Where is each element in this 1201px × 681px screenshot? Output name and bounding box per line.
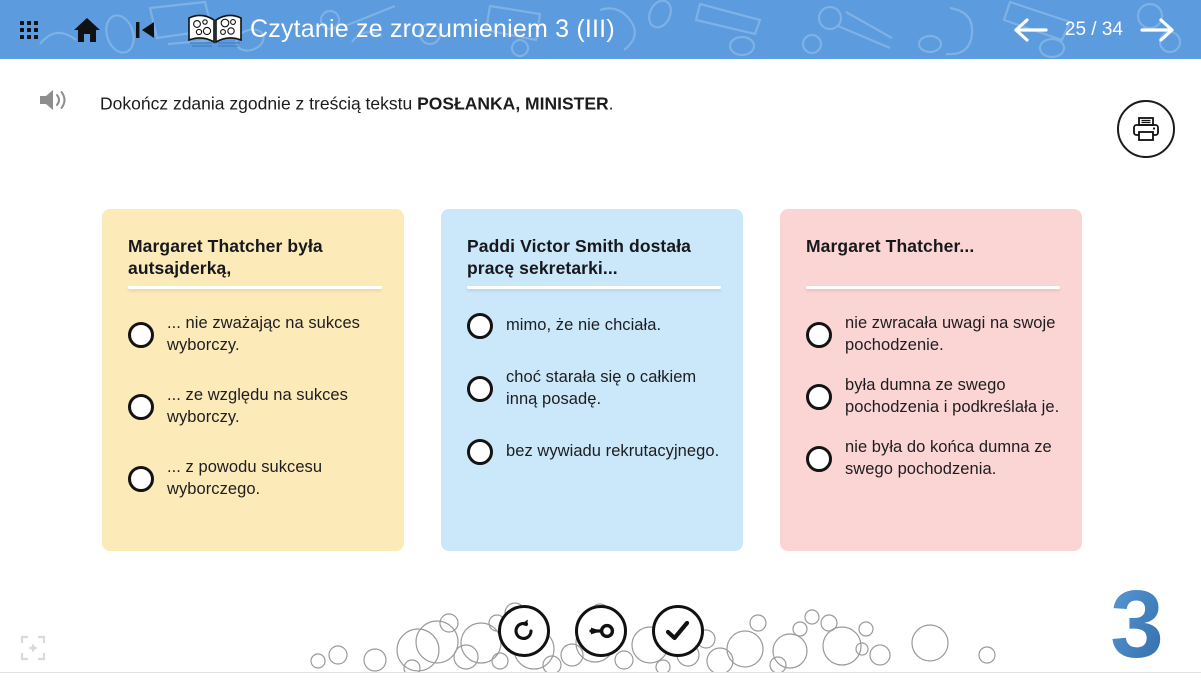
home-button[interactable] [58,0,116,59]
first-page-button[interactable] [116,0,174,59]
answer-card-2: Paddi Victor Smith dostała pracę sekreta… [441,209,743,551]
home-icon [73,17,101,43]
card-title: Paddi Victor Smith dostała pracę sekreta… [467,235,721,279]
option-label: była dumna ze swego pochodzenia i podkre… [845,375,1060,419]
prev-page-button[interactable] [1001,0,1061,59]
reset-button[interactable] [498,605,550,657]
instruction-suffix: . [609,94,614,114]
instruction-row: Dokończ zdania zgodnie z treścią tekstu … [0,59,1201,149]
footer-toolbar: 3 [0,561,1201,681]
page-title: Czytanie ze zrozumieniem 3 (III) [250,15,615,44]
option-row[interactable]: była dumna ze swego pochodzenia i podkre… [806,375,1060,419]
option-row[interactable]: mimo, że nie chciała. [467,313,721,339]
card-divider [806,286,1060,289]
radio-button-icon[interactable] [128,394,154,420]
apps-grid-button[interactable] [0,0,58,59]
arrow-right-icon [1140,17,1174,43]
option-label: ... nie zważając na sukces wyborczy. [167,313,382,357]
option-label: choć starała się o całkiem inną posadę. [506,367,721,411]
option-label: ... ze względu na sukces wyborczy. [167,385,382,429]
card-options: ... nie zważając na sukces wyborczy. ...… [128,313,382,501]
option-row[interactable]: nie zwracała uwagi na swoje pochodzenie. [806,313,1060,357]
open-book-logo-icon [186,10,244,50]
fullscreen-expand-icon [20,635,46,661]
option-label: ... z powodu sukcesu wyborczego. [167,457,382,501]
radio-button-icon[interactable] [128,322,154,348]
option-row[interactable]: choć starała się o całkiem inną posadę. [467,367,721,411]
skip-to-start-icon [133,19,157,41]
radio-button-icon[interactable] [806,384,832,410]
app-header: Czytanie ze zrozumieniem 3 (III) 25 / 34 [0,0,1201,59]
checkmark-icon [665,619,691,643]
fullscreen-button[interactable] [20,635,46,661]
radio-button-icon[interactable] [128,466,154,492]
show-answer-key-button[interactable] [575,605,627,657]
action-buttons [498,605,704,657]
audio-play-button[interactable] [36,83,70,117]
printer-icon [1131,115,1161,143]
option-row[interactable]: ... ze względu na sukces wyborczy. [128,385,382,429]
page-counter: 25 / 34 [1061,19,1127,41]
option-row[interactable]: bez wywiadu rekrutacyjnego. [467,439,721,465]
option-label: nie była do końca dumna ze swego pochodz… [845,437,1060,481]
option-row[interactable]: nie była do końca dumna ze swego pochodz… [806,437,1060,481]
answer-card-1: Margaret Thatcher była autsajderką, ... … [102,209,404,551]
card-options: nie zwracała uwagi na swoje pochodzenie.… [806,313,1060,481]
radio-button-icon[interactable] [806,446,832,472]
apps-grid-icon [20,21,38,39]
card-title: Margaret Thatcher była autsajderką, [128,235,382,279]
instruction-text: Dokończ zdania zgodnie z treścią tekstu … [100,94,614,115]
radio-button-icon[interactable] [467,313,493,339]
level-number: 3 [1110,573,1163,669]
card-divider [128,286,382,289]
option-label: mimo, że nie chciała. [506,315,661,337]
print-button[interactable] [1117,100,1175,158]
option-label: nie zwracała uwagi na swoje pochodzenie. [845,313,1060,357]
next-page-button[interactable] [1127,0,1187,59]
reset-circular-arrow-icon [511,618,537,644]
option-row[interactable]: ... z powodu sukcesu wyborczego. [128,457,382,501]
check-answers-button[interactable] [652,605,704,657]
card-options: mimo, że nie chciała. choć starała się o… [467,313,721,465]
answer-card-3: Margaret Thatcher... nie zwracała uwagi … [780,209,1082,551]
card-divider [467,286,721,289]
option-row[interactable]: ... nie zważając na sukces wyborczy. [128,313,382,357]
radio-button-icon[interactable] [467,376,493,402]
answer-cards-container: Margaret Thatcher była autsajderką, ... … [102,209,1083,551]
speaker-audio-icon [38,87,68,113]
footer-divider [0,672,1201,673]
instruction-bold-title: POSŁANKA, MINISTER [417,94,609,114]
instruction-prefix: Dokończ zdania zgodnie z treścią tekstu [100,94,417,114]
radio-button-icon[interactable] [467,439,493,465]
key-icon [587,619,615,643]
radio-button-icon[interactable] [806,322,832,348]
card-title: Margaret Thatcher... [806,235,1060,257]
option-label: bez wywiadu rekrutacyjnego. [506,441,719,463]
level-logo: 3 [1091,573,1183,669]
exercise-page: Czytanie ze zrozumieniem 3 (III) 25 / 34 [0,0,1201,681]
arrow-left-icon [1014,17,1048,43]
